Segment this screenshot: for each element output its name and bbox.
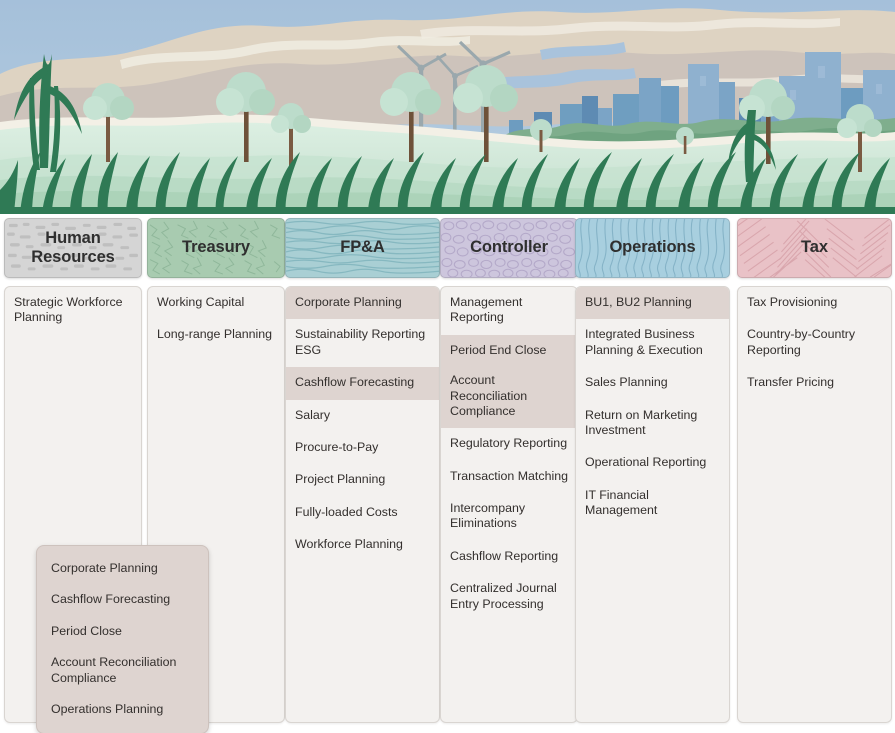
column-tax: Tax Tax Provisioning Country-by-Country … — [737, 218, 892, 723]
list-item[interactable]: Management Reporting — [441, 287, 577, 335]
list-item[interactable]: Corporate Planning — [286, 287, 439, 319]
highlighted-capabilities-panel[interactable]: Corporate Planning Cashflow Forecasting … — [36, 545, 209, 733]
list-item[interactable]: Workforce Planning — [286, 529, 439, 561]
list-item[interactable]: Corporate Planning — [37, 553, 208, 584]
list-item[interactable]: BU1, BU2 Planning — [576, 287, 729, 319]
list-item[interactable]: Country-by-Country Reporting — [738, 319, 891, 367]
column-body-operations: BU1, BU2 Planning Integrated Business Pl… — [575, 286, 730, 723]
list-item[interactable]: Sustainability Reporting ESG — [286, 319, 439, 367]
column-body-controller: Management Reporting Period End Close Ac… — [440, 286, 578, 723]
list-item[interactable]: Return on Marketing Investment — [576, 400, 729, 448]
list-item[interactable]: Project Planning — [286, 464, 439, 496]
list-item[interactable]: Period End Close — [441, 335, 577, 367]
list-item[interactable]: Tax Provisioning — [738, 287, 891, 319]
hero-banner-illustration — [0, 0, 895, 214]
list-item[interactable]: Integrated Business Planning & Execution — [576, 319, 729, 367]
column-title-treasury: Treasury — [182, 238, 250, 257]
column-header-fpa[interactable]: FP&A — [285, 218, 440, 278]
column-body-tax: Tax Provisioning Country-by-Country Repo… — [737, 286, 892, 723]
list-item[interactable]: Account Reconciliation Compliance — [37, 647, 208, 694]
column-controller: Controller Management Reporting Period E… — [440, 218, 578, 723]
column-header-human-resources[interactable]: Human Resources — [4, 218, 142, 278]
column-body-fpa: Corporate Planning Sustainability Report… — [285, 286, 440, 723]
list-item[interactable]: Regulatory Reporting — [441, 428, 577, 460]
list-item[interactable]: Fully-loaded Costs — [286, 497, 439, 529]
list-item[interactable]: Long-range Planning — [148, 319, 284, 351]
column-title-tax: Tax — [801, 238, 828, 257]
column-title-fpa: FP&A — [340, 238, 385, 257]
list-item[interactable]: Cashflow Reporting — [441, 541, 577, 573]
column-operations: Operations BU1, BU2 Planning Integrated … — [575, 218, 730, 723]
column-title-controller: Controller — [470, 238, 548, 257]
column-fpa: FP&A Corporate Planning Sustainability R… — [285, 218, 440, 723]
column-header-operations[interactable]: Operations — [575, 218, 730, 278]
list-item[interactable]: Operations Planning — [37, 694, 208, 725]
list-item[interactable]: Strategic Workforce Planning — [5, 287, 141, 335]
title-line-2: Resources — [31, 248, 114, 266]
title-line-1: Human — [45, 229, 100, 247]
list-item[interactable]: Salary — [286, 400, 439, 432]
list-item[interactable]: IT Financial Management — [576, 480, 729, 528]
list-item[interactable]: Account Reconciliation Compliance — [441, 367, 577, 428]
list-item[interactable]: Operational Reporting — [576, 447, 729, 479]
list-item[interactable]: Intercompany Eliminations — [441, 493, 577, 541]
column-title-human-resources: Human Resources — [31, 229, 114, 267]
list-item[interactable]: Transfer Pricing — [738, 367, 891, 399]
column-header-controller[interactable]: Controller — [440, 218, 578, 278]
page-root: Human Resources Strategic Workforce Plan… — [0, 0, 895, 733]
list-item[interactable]: Transaction Matching — [441, 461, 577, 493]
list-item[interactable]: Working Capital — [148, 287, 284, 319]
list-item[interactable]: Cashflow Forecasting — [37, 584, 208, 615]
column-header-tax[interactable]: Tax — [737, 218, 892, 278]
list-item[interactable]: Period Close — [37, 616, 208, 647]
list-item[interactable]: Cashflow Forecasting — [286, 367, 439, 399]
list-item[interactable]: Sales Planning — [576, 367, 729, 399]
list-item[interactable]: Centralized Journal Entry Processing — [441, 573, 577, 621]
list-item[interactable]: Procure-to-Pay — [286, 432, 439, 464]
column-title-operations: Operations — [609, 238, 695, 257]
column-header-treasury[interactable]: Treasury — [147, 218, 285, 278]
